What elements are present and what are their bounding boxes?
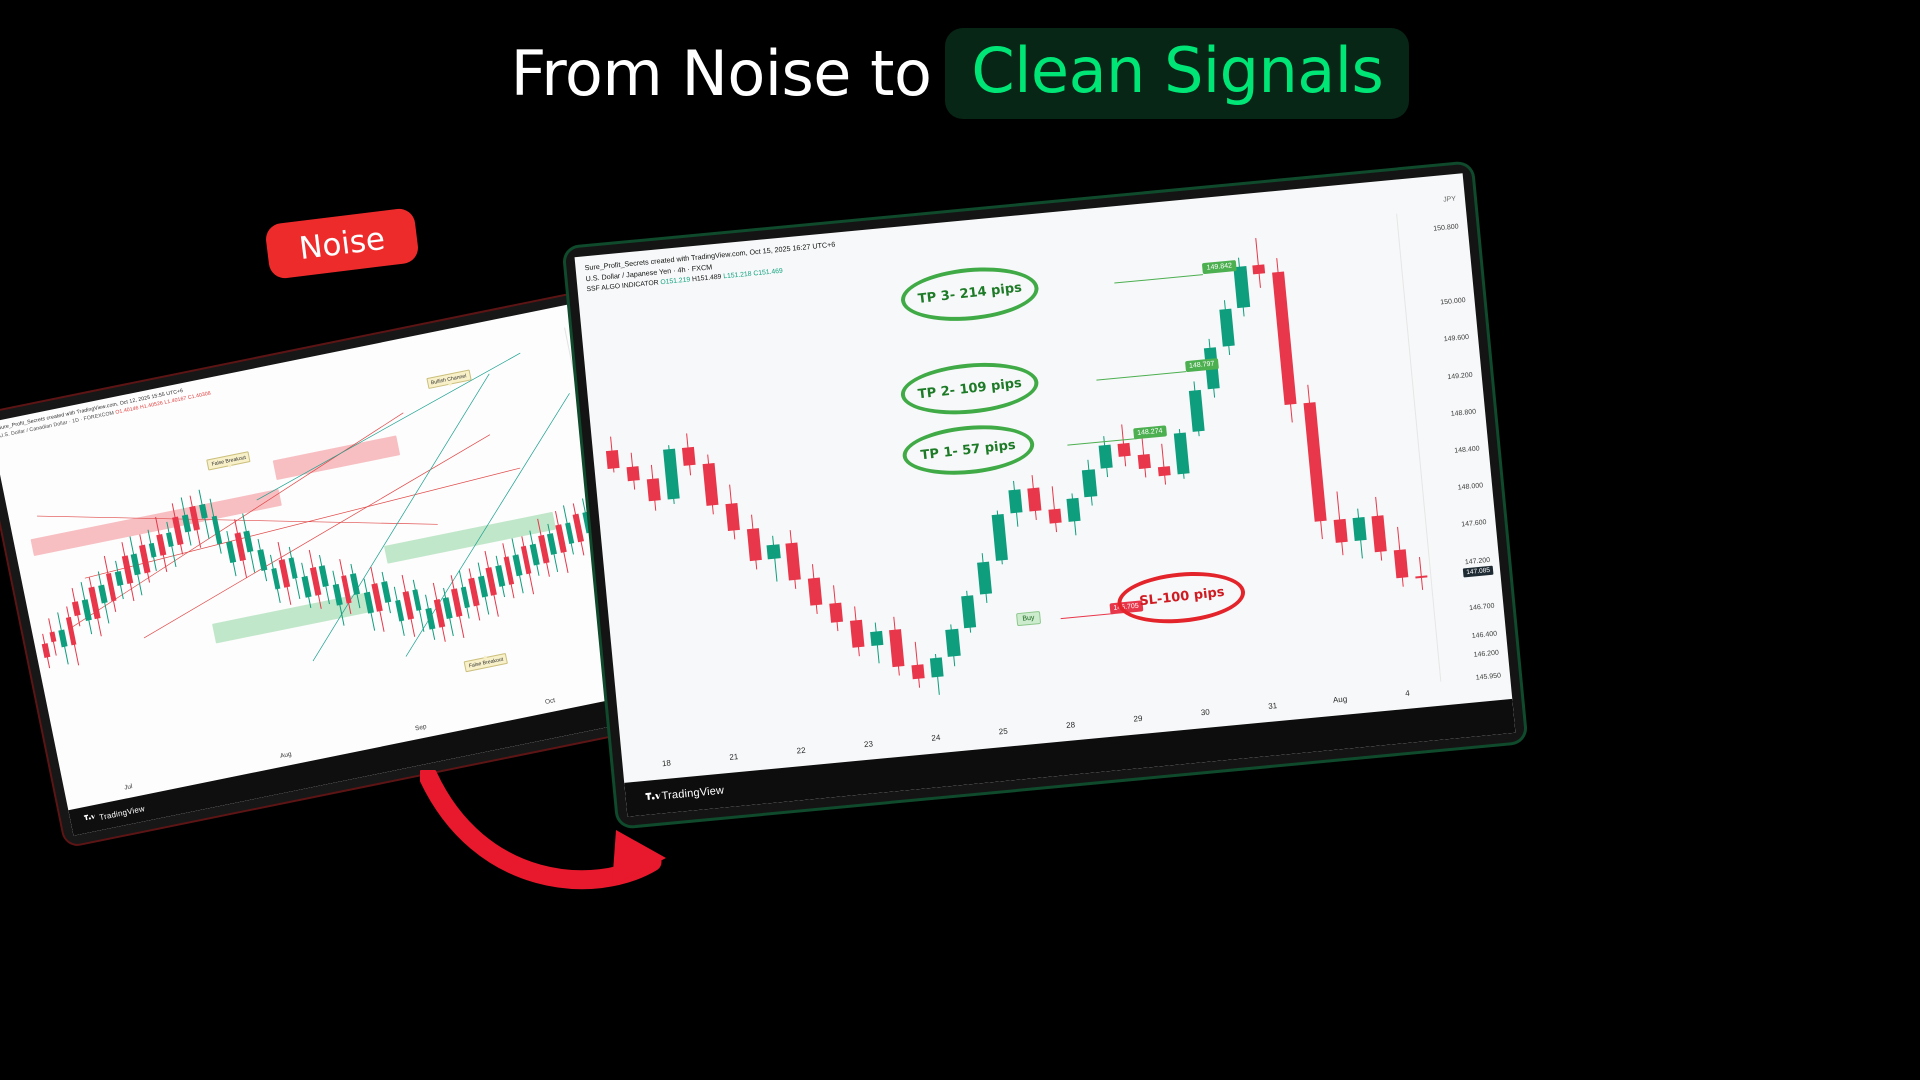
tp2-circle-label: TP 2- 109 pips — [917, 376, 1022, 403]
candle — [1413, 557, 1428, 590]
transition-arrow-icon — [420, 770, 700, 900]
candle — [766, 535, 782, 582]
candle — [646, 464, 662, 511]
ohlc-open: O151.219 — [660, 276, 690, 286]
title-plain-text: From Noise to — [511, 37, 932, 110]
clean-time-tick: 25 — [998, 727, 1008, 737]
candle — [785, 529, 803, 589]
candle — [976, 552, 993, 603]
clean-time-tick: 22 — [796, 746, 806, 756]
candle — [1008, 480, 1024, 527]
candle — [849, 606, 866, 657]
badge-noise-label: Noise — [297, 220, 387, 266]
candle — [723, 484, 740, 540]
candle — [605, 436, 620, 474]
clean-last-price-tag: 147.085 — [1463, 566, 1494, 578]
clean-time-tick: 21 — [729, 752, 739, 762]
candle — [1271, 258, 1299, 423]
noise-time-tick-oct: Oct — [545, 697, 556, 706]
noise-time-tick-sep: Sep — [414, 723, 427, 732]
clean-time-tick: Aug — [1333, 694, 1348, 704]
clean-price-tick: 147.200 — [1465, 557, 1491, 566]
clean-price-tick: 146.200 — [1473, 649, 1499, 658]
clean-time-tick: 23 — [864, 739, 874, 749]
tradingview-logo-icon — [84, 813, 97, 826]
candle — [945, 624, 961, 666]
clean-price-tick: 148.400 — [1454, 445, 1480, 454]
candle — [1369, 497, 1387, 562]
candle — [807, 564, 824, 615]
candle — [1188, 381, 1205, 437]
tp1-circle-label: TP 1- 57 pips — [920, 437, 1016, 463]
clean-price-tick: 149.600 — [1444, 334, 1470, 343]
candle — [1331, 491, 1349, 556]
candle — [1218, 300, 1235, 356]
candle — [1352, 508, 1369, 559]
badge-noise: Noise — [264, 207, 420, 280]
clean-price-tick: 148.800 — [1451, 408, 1477, 417]
candle — [1026, 474, 1042, 521]
ohlc-high: H151.489 — [692, 273, 722, 283]
title-highlight-text: Clean Signals — [971, 34, 1383, 107]
candle — [961, 591, 977, 633]
candle — [909, 641, 925, 688]
candle — [991, 510, 1008, 566]
candle — [1066, 493, 1082, 535]
noise-footer-brand: TradingView — [98, 804, 145, 822]
candle — [1156, 443, 1172, 485]
clean-price-tick: 145.950 — [1476, 672, 1502, 681]
tp1-price-value: 148.274 — [1137, 427, 1163, 436]
clean-price-tick: 146.700 — [1469, 603, 1495, 612]
ohlc-close: C151.469 — [753, 268, 783, 278]
candle — [626, 452, 641, 490]
ohlc-low: L151.218 — [723, 271, 752, 281]
candle — [1136, 436, 1152, 478]
clean-time-tick: 4 — [1405, 689, 1410, 698]
candle — [681, 433, 697, 475]
clean-time-tick: 28 — [1066, 720, 1076, 730]
candle — [888, 616, 906, 676]
noise-time-tick-aug: Aug — [279, 751, 292, 760]
clean-chart-screen: Sure_Profit_Secrets created with Trading… — [575, 173, 1516, 816]
buy-signal-tag: Buy — [1016, 611, 1041, 626]
candle — [929, 653, 945, 695]
clean-time-tick: 31 — [1268, 701, 1278, 711]
candle — [1391, 527, 1409, 587]
poster-canvas: From Noise to Clean Signals Noise Clean … — [0, 0, 1920, 1080]
clean-price-tick: 150.000 — [1440, 297, 1466, 306]
candle — [745, 514, 762, 570]
candle — [828, 585, 844, 632]
clean-chart-device: Sure_Profit_Secrets created with Trading… — [565, 163, 1526, 826]
clean-price-tick: 150.800 — [1433, 223, 1459, 232]
clean-time-tick: 30 — [1200, 707, 1210, 717]
clean-price-tick: 149.200 — [1447, 371, 1473, 380]
clean-price-tick: 148.000 — [1458, 482, 1484, 491]
clean-time-tick: 24 — [931, 733, 941, 743]
clean-price-tick: 147.600 — [1461, 520, 1487, 529]
candle — [1173, 428, 1190, 479]
clean-time-tick: 18 — [662, 758, 672, 768]
tp3-circle-label: TP 3- 214 pips — [917, 281, 1022, 308]
title-highlight-chip: Clean Signals — [945, 28, 1409, 119]
candle — [869, 622, 885, 664]
candle — [1116, 424, 1132, 466]
candle — [663, 444, 681, 504]
buy-signal-label: Buy — [1022, 615, 1035, 623]
tp2-price-value: 148.797 — [1189, 360, 1215, 369]
candle — [1081, 460, 1097, 507]
candle — [1302, 384, 1329, 540]
sl-circle-label: SL-100 pips — [1138, 585, 1225, 609]
tp3-price-value: 149.842 — [1206, 263, 1232, 272]
page-title: From Noise to Clean Signals — [0, 28, 1920, 119]
candle — [1046, 486, 1062, 533]
clean-time-tick: 29 — [1133, 714, 1143, 724]
noise-time-tick-jul: Jul — [124, 783, 134, 792]
candle — [1250, 237, 1267, 288]
candle — [702, 454, 720, 514]
clean-price-axis-title: JPY — [1443, 195, 1456, 203]
clean-price-tick: 146.400 — [1472, 631, 1498, 640]
